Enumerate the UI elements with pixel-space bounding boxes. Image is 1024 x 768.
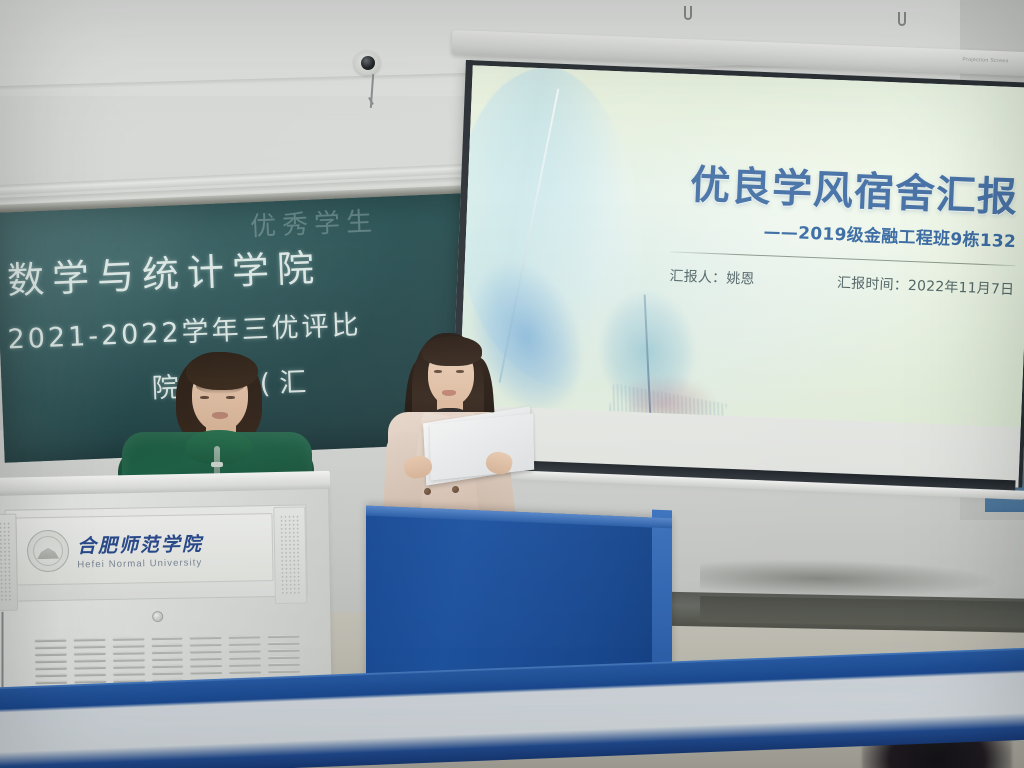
slide-title: 优良学风宿舍汇报 [617,149,1024,223]
nameplate-name-cn: 合肥师范学院 [77,529,203,558]
presenter2-button [452,486,459,493]
podium-speaker-right [273,506,307,604]
presenter2-mouth [442,390,456,396]
slide-meta-row: 汇报人：姚恩 汇报时间：2022年11月7日 [669,265,1015,299]
presenter1-fringe-shadow [196,378,244,394]
slide-divider [670,251,1015,266]
podium-speaker-left [0,514,18,612]
presenter2-fringe [422,336,482,366]
presenter1-eye-left [200,396,209,399]
podium-lock-icon[interactable] [152,611,163,622]
classroom-presentation-photo: 12 1 3 4 6 7 9 11 安全第一 注意用电! 优秀学生 数学与统计学… [0,0,1024,768]
ceiling-hook-icon [898,12,906,26]
university-seal-icon [27,530,70,573]
presenter2-eye-right [456,370,464,373]
nameplate-text: 合肥师范学院 Hefei Normal University [77,529,204,570]
projector-screen: 优良学风宿舍汇报 ——2019级金融工程班9栋132 汇报人：姚恩 汇报时间：2… [449,60,1024,498]
presenter2-eye-left [434,370,442,373]
seal-building-mark-icon [37,547,59,559]
presenter1-zipper-pull [211,462,223,467]
presenter2-papers-top-sheet [430,413,534,480]
ceiling-camera-lens-icon [361,56,375,70]
screen-brand-label: Projection Screen [962,57,1008,65]
presentation-slide: 优良学风宿舍汇报 ——2019级金融工程班9栋132 汇报人：姚恩 汇报时间：2… [459,65,1024,427]
presenter1-eye-right [226,396,235,399]
presenter1-mouth [212,412,228,419]
presenter2-button [424,488,431,495]
slide-date: 汇报时间：2022年11月7日 [837,272,1015,299]
projector-screen-frame: 优良学风宿舍汇报 ——2019级金融工程班9栋132 汇报人：姚恩 汇报时间：2… [450,60,1024,488]
podium-nameplate: 合肥师范学院 Hefei Normal University [15,513,273,585]
slide-presenter: 汇报人：姚恩 [669,265,755,288]
nameplate-name-en: Hefei Normal University [77,557,203,570]
ceiling-hook-icon [684,6,692,20]
